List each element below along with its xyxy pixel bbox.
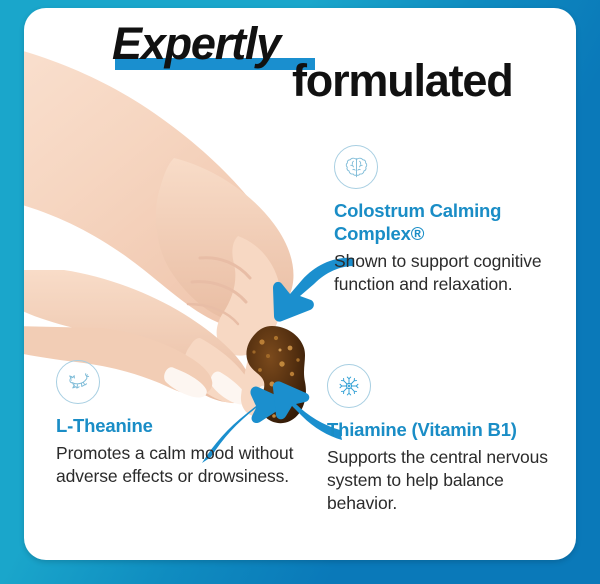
ingredient-block-theanine: L-Theanine Promotes a calm mood without … (56, 360, 306, 488)
running-dog-icon (64, 368, 92, 396)
brain-icon (343, 154, 370, 181)
running-dog-icon-circle (56, 360, 100, 404)
ingredient-title-thiamine: Thiamine (Vitamin B1) (327, 418, 567, 441)
white-content-card: Expertly formulated (24, 8, 576, 560)
brain-icon-circle (334, 145, 378, 189)
expertly-formulated-infographic: Expertly formulated (0, 0, 600, 584)
ingredient-body-theanine: Promotes a calm mood without adverse eff… (56, 442, 306, 488)
ingredient-body-thiamine: Supports the central nervous system to h… (327, 446, 567, 515)
neuron-icon-circle (327, 364, 371, 408)
neuron-icon (335, 372, 363, 400)
ingredient-title-theanine: L-Theanine (56, 414, 306, 437)
ingredient-block-colostrum: Colostrum Calming Complex® Shown to supp… (334, 145, 564, 296)
ingredient-body-colostrum: Shown to support cognitive function and … (334, 250, 564, 296)
ingredient-block-thiamine: Thiamine (Vitamin B1) Supports the centr… (327, 364, 567, 515)
ingredient-title-colostrum: Colostrum Calming Complex® (334, 199, 564, 245)
